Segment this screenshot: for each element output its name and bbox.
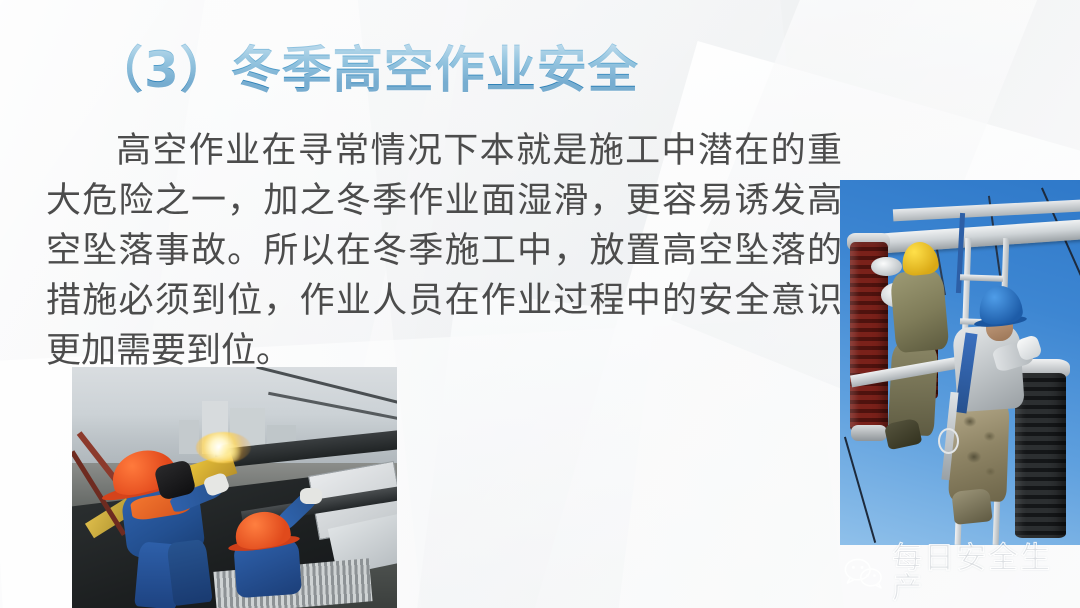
high-altitude-welding-photo [72,367,397,608]
slide-body-text: 高空作业在寻常情况下本就是施工中潜在的重大危险之一，加之冬季作业面湿滑，更容易诱… [46,126,842,376]
insulator-base [851,425,887,441]
lineman-torso [889,269,949,354]
welder-glove [300,488,323,505]
slide-canvas: （3）冬季高空作业安全 高空作业在寻常情况下本就是施工中潜在的重大危险之一，加之… [0,0,1080,608]
welder-leg [166,538,212,605]
work-boot [951,488,993,525]
powerline-photo-content [840,180,1080,545]
camouflage-pattern [951,405,1007,494]
welding-spark [215,444,244,461]
welding-photo-content [72,367,397,608]
power-line-workers-photo [840,180,1080,545]
slide-title: （3）冬季高空作业安全 [93,42,639,98]
